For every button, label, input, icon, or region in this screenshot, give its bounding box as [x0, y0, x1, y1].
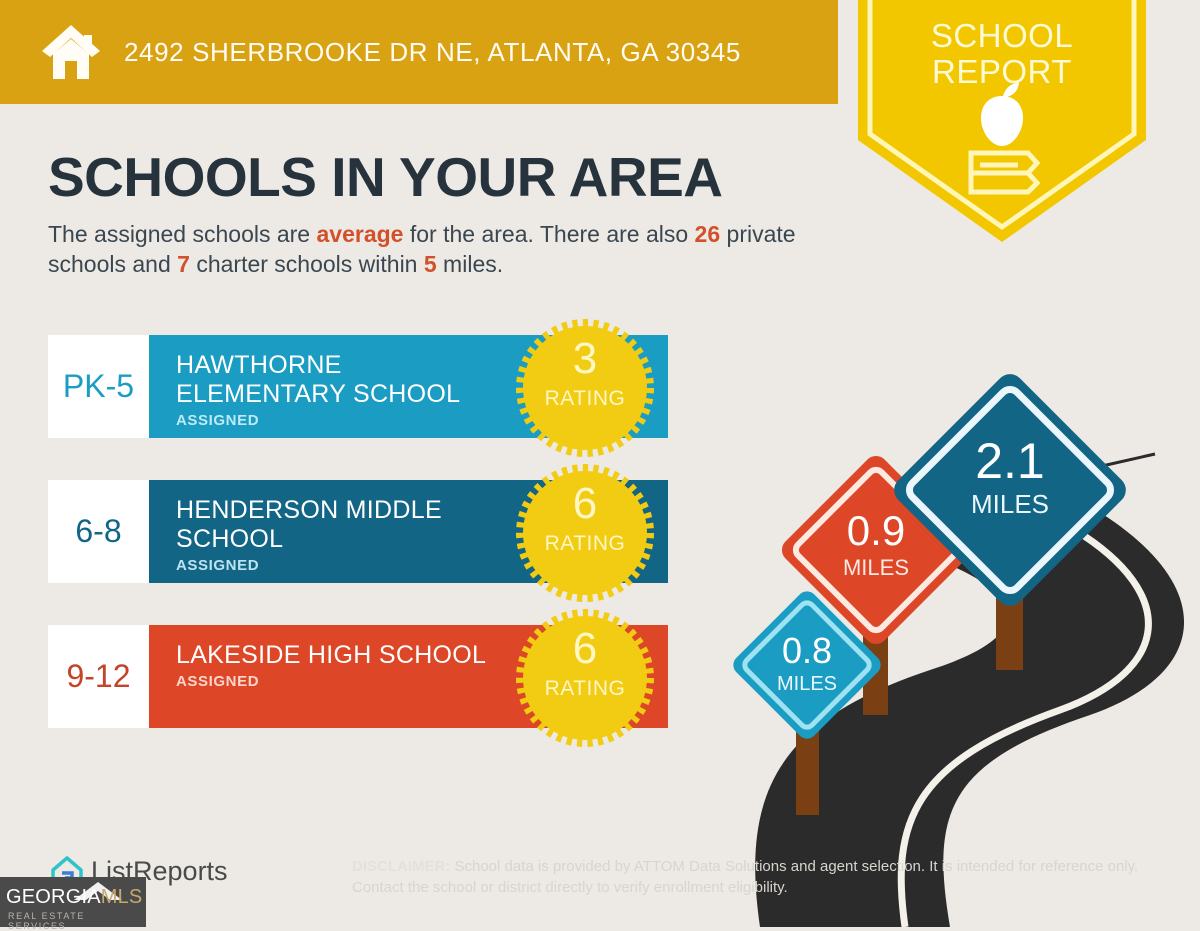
home-icon	[40, 23, 102, 81]
watermark-name-2: MLS	[101, 886, 143, 908]
property-address: 2492 SHERBROOKE DR NE, ATLANTA, GA 30345	[124, 37, 741, 68]
watermark-name: GEORGIAMLS	[6, 886, 142, 909]
school-name: LAKESIDE HIGH SCHOOL	[176, 641, 506, 670]
rating-value: 6	[514, 627, 656, 671]
badge-title: SCHOOL REPORT	[858, 18, 1146, 90]
badge-line-2: REPORT	[858, 54, 1146, 90]
summary-part-4: charter schools within	[190, 251, 424, 277]
summary-quality: average	[317, 221, 404, 247]
school-grade-range: PK-5	[48, 335, 149, 438]
rating-value: 6	[514, 482, 656, 526]
summary-private-count: 26	[695, 221, 721, 247]
sign-antenna	[1102, 454, 1155, 466]
badge-line-1: SCHOOL	[858, 18, 1146, 54]
distance-value: 0.9	[847, 507, 905, 554]
rating-badge: 3 RATING	[514, 317, 656, 459]
school-grade-range: 6-8	[48, 480, 149, 583]
distance-unit: MILES	[971, 489, 1049, 519]
rating-value: 3	[514, 337, 656, 381]
summary-charter-count: 7	[177, 251, 190, 277]
school-report-badge: SCHOOL REPORT	[858, 0, 1146, 242]
summary-part-2: for the area. There are also	[403, 221, 694, 247]
header-bar: 2492 SHERBROOKE DR NE, ATLANTA, GA 30345	[0, 0, 838, 104]
disclaimer-label: DISCLAIMER:	[352, 858, 450, 875]
school-row: 6-8 HENDERSON MIDDLE SCHOOL ASSIGNED 6 R…	[48, 480, 668, 583]
watermark-tagline: REAL ESTATE SERVICES	[8, 911, 146, 931]
summary-text: The assigned schools are average for the…	[48, 219, 848, 279]
georgiamls-watermark: GEORGIAMLS REAL ESTATE SERVICES	[0, 877, 146, 927]
disclaimer: DISCLAIMER: School data is provided by A…	[352, 856, 1142, 898]
distance-value: 2.1	[975, 433, 1045, 489]
rating-label: RATING	[514, 387, 656, 411]
rating-label: RATING	[514, 532, 656, 556]
rating-badge: 6 RATING	[514, 607, 656, 749]
watermark-name-1: GEORGIA	[6, 886, 101, 908]
school-row: PK-5 HAWTHORNE ELEMENTARY SCHOOL ASSIGNE…	[48, 335, 668, 438]
page-title: SCHOOLS IN YOUR AREA	[48, 145, 723, 209]
school-grade-range: 9-12	[48, 625, 149, 728]
distance-value: 0.8	[782, 630, 832, 671]
rating-badge: 6 RATING	[514, 462, 656, 604]
school-list: PK-5 HAWTHORNE ELEMENTARY SCHOOL ASSIGNE…	[48, 335, 668, 770]
summary-part-5: miles.	[437, 251, 503, 277]
rating-label: RATING	[514, 677, 656, 701]
school-name: HAWTHORNE ELEMENTARY SCHOOL	[176, 351, 506, 409]
disclaimer-text: School data is provided by ATTOM Data So…	[352, 858, 1138, 896]
school-name: HENDERSON MIDDLE SCHOOL	[176, 496, 506, 554]
summary-part-1: The assigned schools are	[48, 221, 317, 247]
distance-unit: MILES	[777, 673, 837, 695]
distance-unit: MILES	[843, 555, 909, 580]
school-row: 9-12 LAKESIDE HIGH SCHOOL ASSIGNED 6 RAT…	[48, 625, 668, 728]
distance-illustration: 0.8 MILES 0.9 MILES 2.1 MILES	[700, 370, 1200, 927]
summary-radius: 5	[424, 251, 437, 277]
